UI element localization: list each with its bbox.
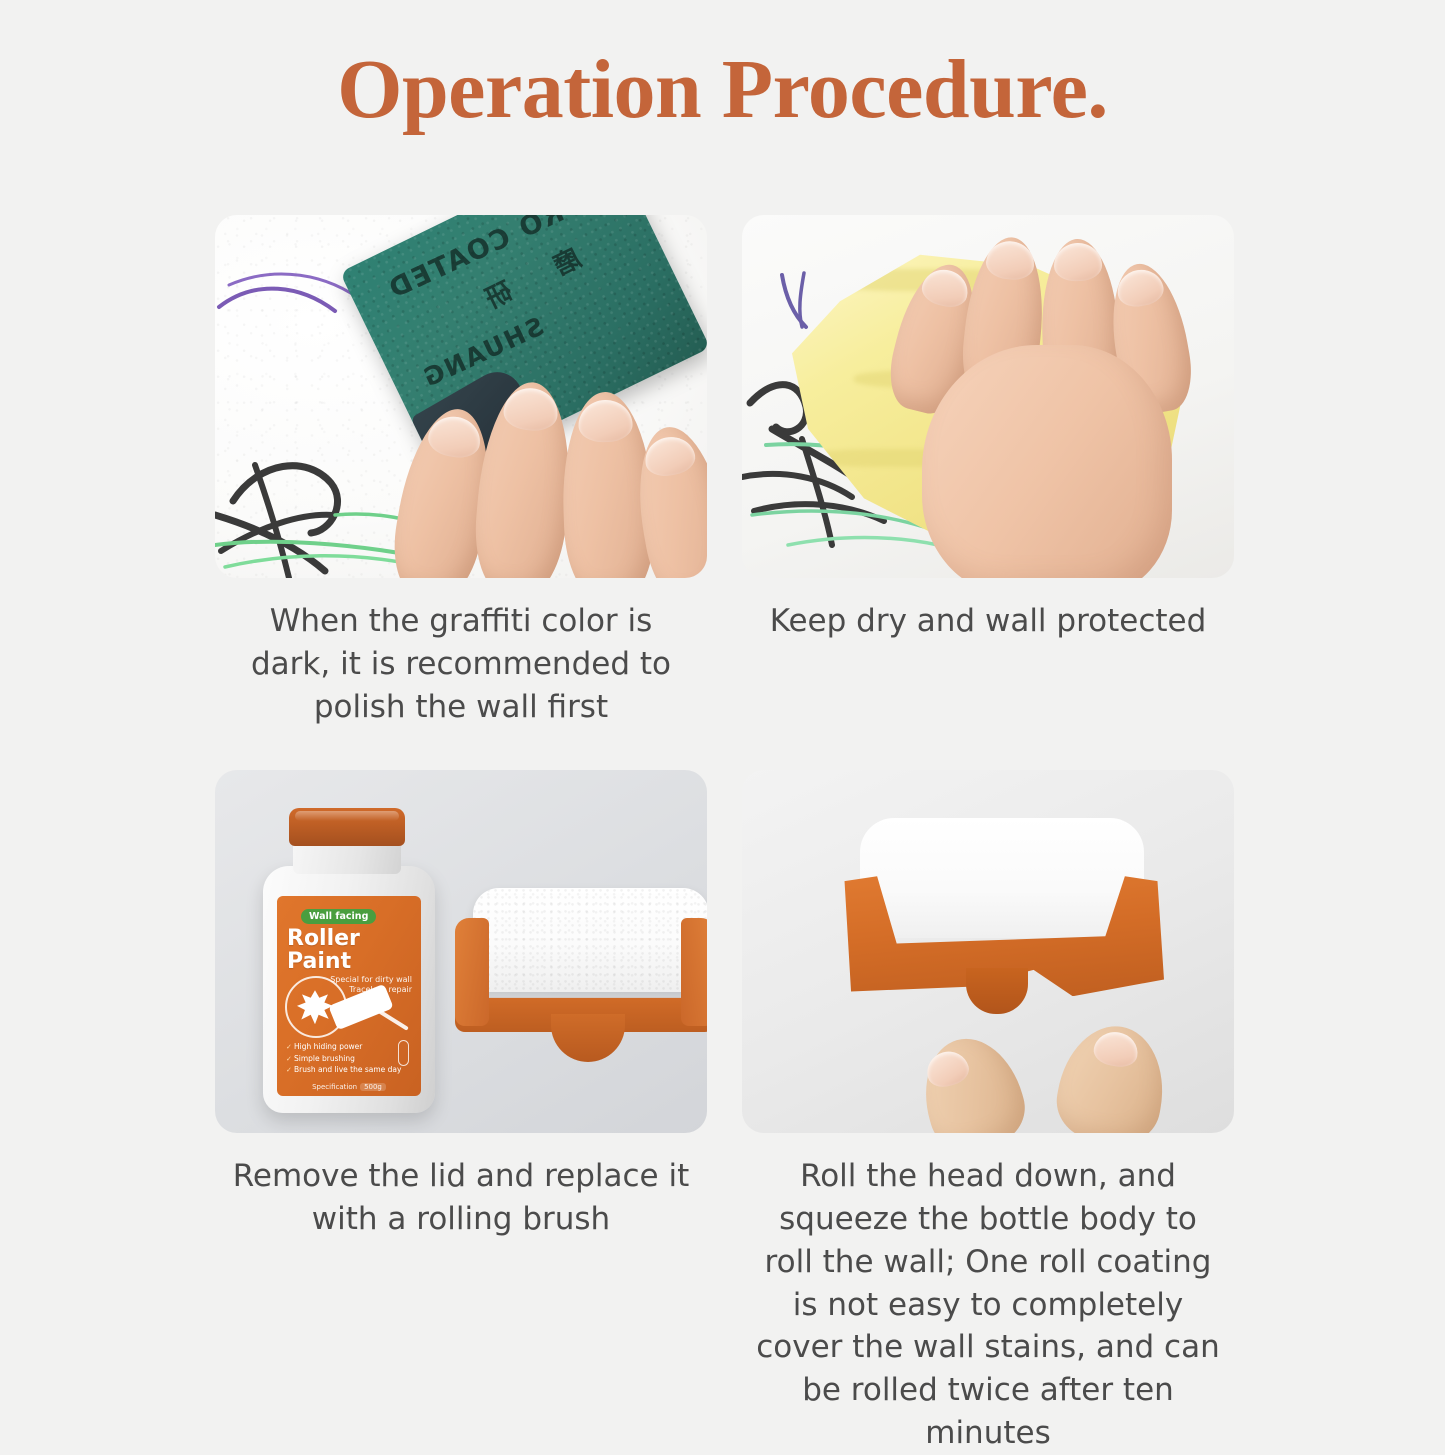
step-3-caption: Remove the lid and replace it with a rol… [226,1155,696,1241]
steps-row-bottom: Wall facing Roller Paint Special for dir… [215,770,1235,1454]
palm [922,345,1172,578]
step-card-1: ELECTRO COATED SHUANG 研 磨 [215,215,707,728]
fingernail [985,239,1037,282]
step-4-caption: Roll the head down, and squeeze the bott… [753,1155,1223,1454]
fingernail [1091,1029,1140,1070]
step-card-2: Keep dry and wall protected [742,215,1234,643]
roller-nap [860,818,1144,938]
hand-wiping-wall [892,225,1212,578]
step-1-photo: ELECTRO COATED SHUANG 研 磨 [215,215,707,578]
finger [470,378,578,578]
roller-handle-icon [371,1005,409,1031]
roller-on-wall [838,818,1164,1048]
roller-stem [966,968,1028,1014]
hand-holding-sponge [387,352,707,578]
fingernail [1053,242,1102,282]
label-title: Roller Paint [287,927,412,973]
label-footer: Specification500g [277,1083,421,1091]
roller-arm-right [681,918,707,1026]
steps-grid: ELECTRO COATED SHUANG 研 磨 [215,215,1235,1455]
roller-arm-left [455,918,489,1026]
fingernail [1114,266,1166,309]
step-2-caption: Keep dry and wall protected [753,600,1223,643]
fingernail [919,265,972,311]
step-4-photo [742,770,1234,1133]
steps-row-top: ELECTRO COATED SHUANG 研 磨 [215,215,1235,728]
label-bullet-2: Simple brushing [286,1053,401,1065]
roller-stem [551,1014,625,1062]
step-card-3: Wall facing Roller Paint Special for dir… [215,770,707,1241]
roller-brush-head [455,888,707,1088]
step-3-photo: Wall facing Roller Paint Special for dir… [215,770,707,1133]
fingernail [642,433,698,479]
label-bullet-3: Brush and live the same day [286,1064,401,1076]
step-1-caption: When the graffiti color is dark, it is r… [226,600,696,728]
roller-nap [473,888,707,992]
fingernail [502,386,559,433]
fingernail [923,1047,973,1091]
label-badge: Wall facing [301,909,376,924]
label-bullet-1: High hiding power [286,1041,401,1053]
operation-procedure-page: Operation Procedure. [0,0,1445,1445]
fingernail [578,399,633,443]
roller-paint-bottle: Wall facing Roller Paint Special for dir… [263,808,435,1113]
bottle-label: Wall facing Roller Paint Special for dir… [277,896,421,1096]
page-title: Operation Procedure. [0,44,1445,136]
bottle-cap [289,808,405,846]
label-bullets: High hiding power Simple brushing Brush … [286,1041,401,1077]
label-footer-chip: 500g [360,1083,386,1091]
step-card-4: Roll the head down, and squeeze the bott… [742,770,1234,1454]
step-2-photo [742,215,1234,578]
label-footer-text: Specification [312,1083,357,1091]
fingernail [426,413,484,461]
